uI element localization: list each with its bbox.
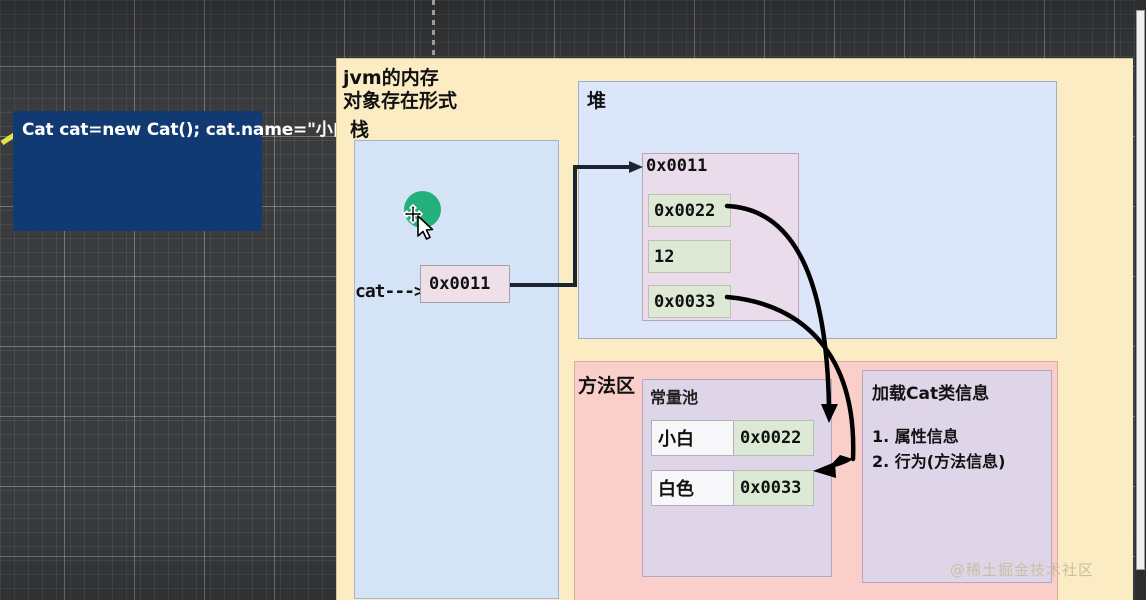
constant-pool-address: 0x0033: [734, 470, 814, 506]
move-cursor-icon: [397, 185, 457, 251]
jvm-memory-diagram-board: jvm的内存 对象存在形式 栈 cat---> 0x0011 堆 0x0011 …: [336, 58, 1133, 600]
heap-field-age-value: 12: [654, 247, 674, 267]
heap-field-color[interactable]: 0x0033: [648, 285, 731, 318]
heap-object-id: 0x0011: [646, 156, 707, 176]
watermark: @稀土掘金技术社区: [950, 559, 1094, 580]
class-info-list: 1. 属性信息 2. 行为(方法信息): [872, 424, 1051, 474]
code-snippet-note: Cat cat=new Cat(); cat.name="小白"; cat.ag…: [13, 111, 262, 231]
stack-variable-value: 0x0011: [429, 274, 490, 294]
vertical-scrollbar-thumb[interactable]: [1136, 10, 1145, 570]
heap-field-age[interactable]: 12: [648, 240, 731, 273]
heap-field-color-value: 0x0033: [654, 292, 715, 312]
constant-pool-address: 0x0022: [734, 420, 814, 456]
stack-variable-label: cat--->: [355, 281, 424, 302]
method-area-label: 方法区: [578, 371, 635, 398]
stack-variable-value-box[interactable]: 0x0011: [420, 265, 510, 303]
class-info-title: 加载Cat类信息: [872, 379, 1051, 404]
vertical-scrollbar-track[interactable]: [1135, 0, 1146, 600]
class-info-item: 1. 属性信息: [872, 424, 1051, 449]
constant-pool-address-value: 0x0022: [740, 428, 801, 448]
constant-pool-key: 小白: [651, 420, 734, 456]
heap-object-box[interactable]: 0x0011 0x0022 12 0x0033: [642, 153, 799, 321]
constant-pool-label: 常量池: [650, 384, 698, 408]
constant-pool-key: 白色: [651, 470, 734, 506]
heap-field-name-value: 0x0022: [654, 201, 715, 221]
stack-label: 栈: [350, 115, 369, 142]
heap-field-name[interactable]: 0x0022: [648, 194, 731, 227]
board-title: jvm的内存 对象存在形式: [343, 67, 457, 113]
constant-pool-box: 常量池 小白 0x0022 白色 0x0033: [642, 379, 832, 577]
constant-pool-row[interactable]: 白色 0x0033: [651, 470, 814, 506]
class-info-item: 2. 行为(方法信息): [872, 449, 1051, 474]
heap-label: 堆: [587, 86, 606, 113]
class-info-box: 加载Cat类信息 1. 属性信息 2. 行为(方法信息): [862, 370, 1052, 583]
constant-pool-address-value: 0x0033: [740, 478, 801, 498]
constant-pool-row[interactable]: 小白 0x0022: [651, 420, 814, 456]
canvas-guide-line: [432, 0, 435, 58]
